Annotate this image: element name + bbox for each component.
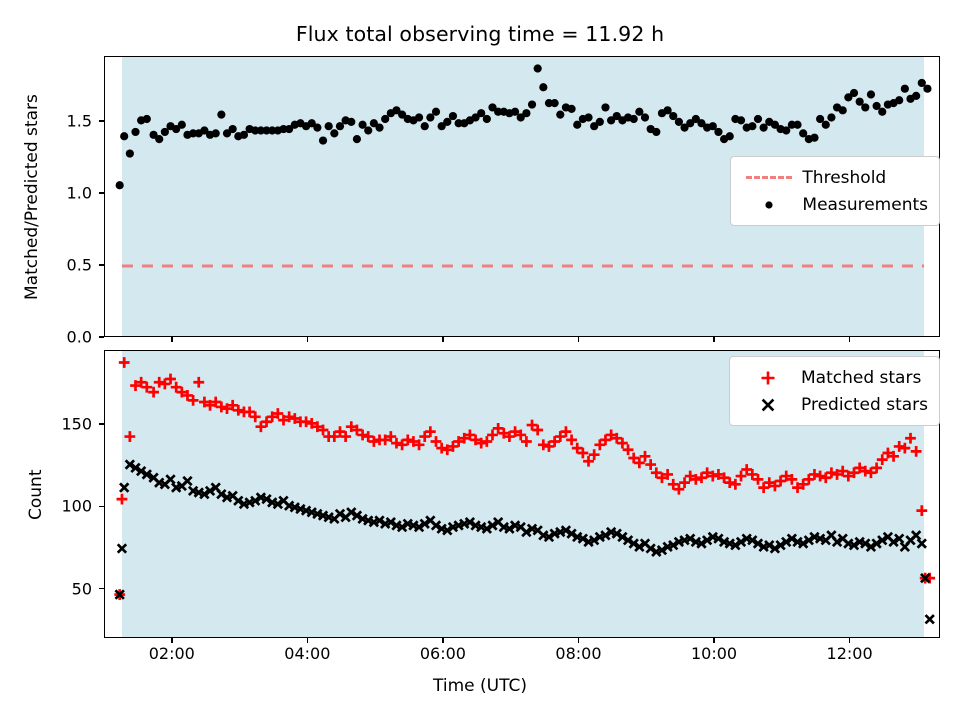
legend-label-predicted-stars: Predicted stars: [797, 395, 928, 415]
bottom-legend[interactable]: Matched stars Predicted stars: [729, 356, 940, 426]
y-tick-label: 150: [44, 415, 92, 434]
x-tick-mark: [849, 337, 851, 342]
bottom-y-tick-area: 50100150: [0, 350, 104, 638]
x-tick-mark: [713, 638, 715, 643]
legend-label-matched-stars: Matched stars: [797, 368, 921, 388]
x-tick-area: 02:0004:0006:0008:0010:0012:00: [104, 638, 940, 672]
x-tick-mark: [442, 337, 444, 342]
x-tick-mark: [849, 638, 851, 643]
x-tick-mark: [171, 337, 173, 342]
y-tick-label: 1.5: [44, 111, 92, 130]
x-axis-label: Time (UTC): [0, 676, 960, 696]
y-tick-label: 100: [44, 497, 92, 516]
y-tick-label: 0.5: [44, 255, 92, 274]
legend-label-measurements: Measurements: [798, 195, 928, 215]
y-tick-label: 50: [44, 579, 92, 598]
x-marker-icon: [739, 396, 797, 414]
legend-item-matched-stars[interactable]: Matched stars: [739, 364, 928, 391]
bottom-y-axis-label: Count: [26, 469, 46, 520]
x-tick-mark: [442, 638, 444, 643]
x-tick-label: 04:00: [284, 644, 330, 663]
x-tick-mark: [307, 337, 309, 342]
y-tick-label: 1.0: [44, 183, 92, 202]
y-tick-mark: [99, 120, 104, 122]
x-tick-mark: [578, 337, 580, 342]
y-tick-label: 0.0: [44, 328, 92, 347]
x-tick-mark: [307, 638, 309, 643]
circle-marker-icon: [740, 198, 798, 212]
x-tick-label: 02:00: [149, 644, 195, 663]
dashed-line-icon: [740, 176, 798, 179]
x-tick-label: 10:00: [691, 644, 737, 663]
y-tick-mark: [99, 588, 104, 590]
y-tick-mark: [99, 192, 104, 194]
top-y-tick-area: 0.00.51.01.5: [0, 56, 104, 337]
legend-item-measurements[interactable]: Measurements: [740, 191, 928, 218]
y-tick-mark: [99, 264, 104, 266]
y-tick-mark: [99, 506, 104, 508]
legend-item-predicted-stars[interactable]: Predicted stars: [739, 391, 928, 418]
figure-canvas: Flux total observing time = 11.92 h Thre…: [0, 0, 960, 720]
x-tick-mark: [171, 638, 173, 643]
figure-title: Flux total observing time = 11.92 h: [0, 22, 960, 46]
bottom-panel-axes: Matched stars Predicted stars: [104, 350, 940, 638]
x-tick-label: 12:00: [827, 644, 873, 663]
legend-item-threshold[interactable]: Threshold: [740, 164, 928, 191]
top-y-axis-label: Matched/Predicted stars: [22, 94, 42, 300]
legend-label-threshold: Threshold: [798, 168, 886, 188]
top-x-tick-area: [104, 337, 940, 345]
x-tick-mark: [713, 337, 715, 342]
x-tick-mark: [578, 638, 580, 643]
x-tick-label: 08:00: [555, 644, 601, 663]
top-legend[interactable]: Threshold Measurements: [730, 156, 940, 226]
y-tick-mark: [99, 423, 104, 425]
predicted-stars-scatter: [115, 460, 933, 623]
top-panel-axes: Threshold Measurements: [104, 56, 940, 337]
plus-marker-icon: [739, 369, 797, 387]
x-tick-label: 06:00: [420, 644, 466, 663]
